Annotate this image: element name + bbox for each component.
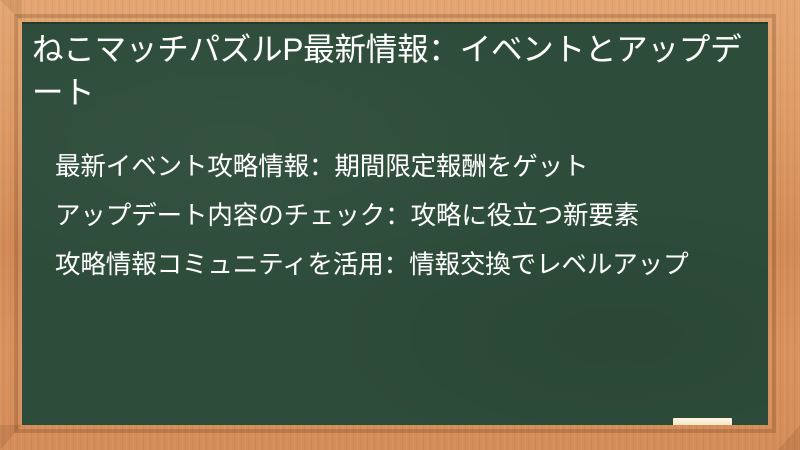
list-item: 最新イベント攻略情報：期間限定報酬をゲット [55, 150, 755, 185]
bullet-list: 最新イベント攻略情報：期間限定報酬をゲット アップデート内容のチェック：攻略に役… [55, 150, 755, 283]
list-item: アップデート内容のチェック：攻略に役立つ新要素 [55, 199, 755, 234]
chalkboard-top-edge [22, 22, 768, 24]
chalkboard-surface: ねこマッチパズルP最新情報：イベントとアップデート 最新イベント攻略情報：期間限… [22, 22, 768, 425]
frame-corner-top-left [0, 0, 22, 22]
list-item: 攻略情報コミュニティを活用：情報交換でレベルアップ [55, 248, 755, 283]
page-title: ねこマッチパズルP最新情報：イベントとアップデート [32, 28, 758, 114]
chalkboard-slide: ねこマッチパズルP最新情報：イベントとアップデート 最新イベント攻略情報：期間限… [0, 0, 800, 450]
frame-corner-bottom-left [0, 425, 22, 450]
chalk-stick-icon [673, 418, 732, 425]
frame-corner-bottom-right [778, 425, 800, 450]
